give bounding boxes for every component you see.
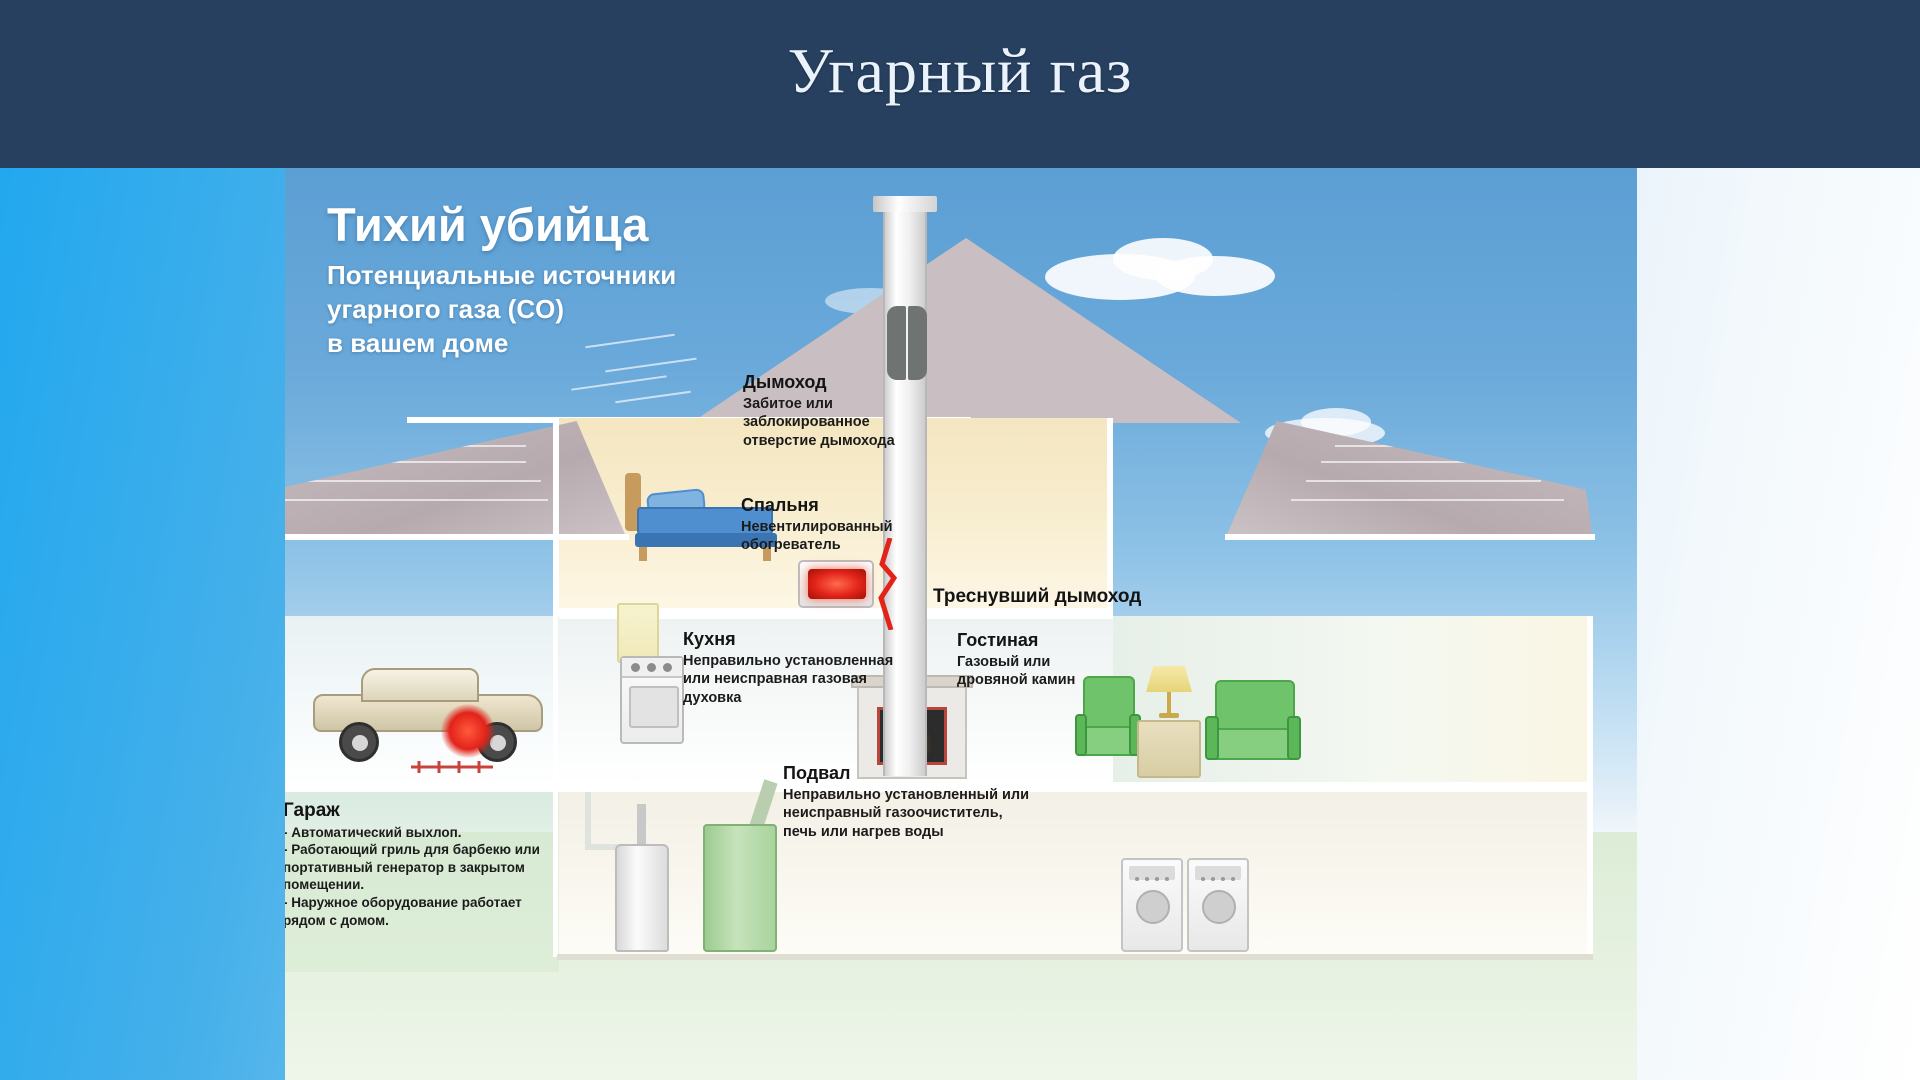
dryer-illustration: [1187, 858, 1249, 952]
label-line: Забитое или: [743, 395, 895, 414]
label-basement-desc: Неправильно установленный или неисправны…: [783, 786, 1029, 842]
label-line: дровяной камин: [957, 671, 1075, 690]
label-living-room: Гостиная Газовый или дровяной камин: [957, 630, 1075, 690]
water-heater-illustration: [615, 844, 669, 952]
right-wing-roof: [1225, 421, 1593, 539]
label-garage-desc: - Автоматический выхлоп. - Работающий гр…: [285, 824, 540, 929]
car-ramp-icon: [409, 760, 495, 774]
label-line: Неправильно установленный или: [783, 786, 1029, 805]
roof-shingle: [615, 391, 691, 404]
lamp-base: [1159, 713, 1179, 718]
label-line: отверстие дымохода: [743, 432, 895, 451]
interior-wall: [553, 418, 559, 616]
subhead-line-2: угарного газа (CO): [327, 293, 797, 327]
label-bedroom: Спальня Невентилированный обогреватель: [741, 495, 893, 555]
chimney-cap: [873, 196, 937, 212]
lamp-shade: [1146, 666, 1192, 692]
heater-glow-icon: [808, 569, 866, 599]
stove-burner: [663, 663, 672, 672]
stove-cooktop: [622, 658, 682, 678]
kitchen-cupboard: [617, 603, 659, 663]
label-line: Неправильно установленная: [683, 652, 893, 671]
subhead-line-1: Потенциальные источники: [327, 259, 797, 293]
label-bedroom-desc: Невентилированный обогреватель: [741, 518, 893, 555]
armchair-illustration: [1075, 676, 1141, 772]
exhaust-hazard-icon: [441, 704, 495, 758]
label-line: обогреватель: [741, 536, 893, 555]
stove-burner: [631, 663, 640, 672]
appliance-panel: [1195, 866, 1241, 880]
slide-title-bar: Угарный газ: [0, 0, 1920, 168]
label-line: - Автоматический выхлоп.: [285, 824, 540, 842]
label-cracked-chimney: Треснувший дымоход: [933, 586, 1141, 608]
left-wing-roof: [285, 421, 627, 539]
chimney-blockage-icon: [908, 306, 927, 380]
label-living-room-desc: Газовый или дровяной камин: [957, 653, 1075, 690]
label-line: Газовый или: [957, 653, 1075, 672]
gas-oven-illustration: [620, 656, 684, 744]
right-wing-roof-edge: [1225, 534, 1595, 540]
page-title: Угарный газ: [0, 34, 1920, 108]
label-kitchen: Кухня Неправильно установленная или неис…: [683, 629, 893, 707]
car-illustration: [313, 660, 543, 764]
label-line: неисправный газоочиститель,: [783, 804, 1029, 823]
basement-floor-slab: [557, 954, 1593, 960]
label-cracked-chimney-title: Треснувший дымоход: [933, 586, 1141, 608]
appliance-panel: [1129, 866, 1175, 880]
sofa-illustration: [1205, 680, 1301, 778]
basement-duct: [585, 792, 591, 846]
label-line: духовка: [683, 689, 893, 708]
label-living-room-title: Гостиная: [957, 630, 1075, 651]
label-line: печь или нагрев воды: [783, 823, 1029, 842]
interior-wall: [553, 616, 558, 786]
label-kitchen-title: Кухня: [683, 629, 893, 650]
infographic-subhead: Потенциальные источники угарного газа (C…: [327, 259, 797, 360]
subhead-line-3: в вашем доме: [327, 327, 797, 361]
label-chimney: Дымоход Забитое или заблокированное отве…: [743, 372, 895, 450]
label-line: или неисправная газовая: [683, 670, 893, 689]
roof-shingle: [571, 375, 666, 390]
label-garage-title: Гараж: [285, 800, 540, 822]
label-line: - Наружное оборудование работает: [285, 894, 540, 912]
label-line: Невентилированный: [741, 518, 893, 537]
label-kitchen-desc: Неправильно установленная или неисправна…: [683, 652, 893, 708]
infographic-headline: Тихий убийца: [327, 200, 797, 249]
infographic-panel: Тихий убийца Потенциальные источники уга…: [285, 168, 1637, 1080]
car-wheel: [339, 722, 379, 762]
unvented-heater-illustration: [798, 560, 874, 608]
car-cabin: [361, 668, 479, 702]
headline-block: Тихий убийца Потенциальные источники уга…: [327, 200, 797, 361]
label-line: заблокированное: [743, 413, 895, 432]
label-line: помещении.: [285, 876, 540, 894]
table-lamp-illustration: [1146, 666, 1192, 720]
stove-burner: [647, 663, 656, 672]
label-line: портативный генератор в закрытом: [285, 859, 540, 877]
water-heater-flue: [637, 804, 646, 846]
label-chimney-title: Дымоход: [743, 372, 895, 393]
left-wing-roof-edge: [285, 534, 629, 540]
side-table: [1137, 720, 1201, 778]
label-garage: Гараж - Автоматический выхлоп. - Работаю…: [285, 800, 540, 929]
label-chimney-desc: Забитое или заблокированное отверстие ды…: [743, 395, 895, 451]
furnace-illustration: [703, 824, 777, 952]
label-basement-title: Подвал: [783, 763, 1029, 784]
bed-leg: [639, 547, 647, 561]
interior-wall: [553, 792, 558, 957]
oven-door: [629, 686, 679, 728]
lamp-stem: [1167, 692, 1171, 714]
label-line: - Работающий гриль для барбекю или: [285, 841, 540, 859]
appliance-door: [1136, 890, 1170, 924]
appliance-door: [1202, 890, 1236, 924]
label-line: рядом с домом.: [285, 912, 540, 930]
label-bedroom-title: Спальня: [741, 495, 893, 516]
washer-illustration: [1121, 858, 1183, 952]
chimney-blockage-icon: [887, 306, 906, 380]
label-basement: Подвал Неправильно установленный или неи…: [783, 763, 1029, 841]
